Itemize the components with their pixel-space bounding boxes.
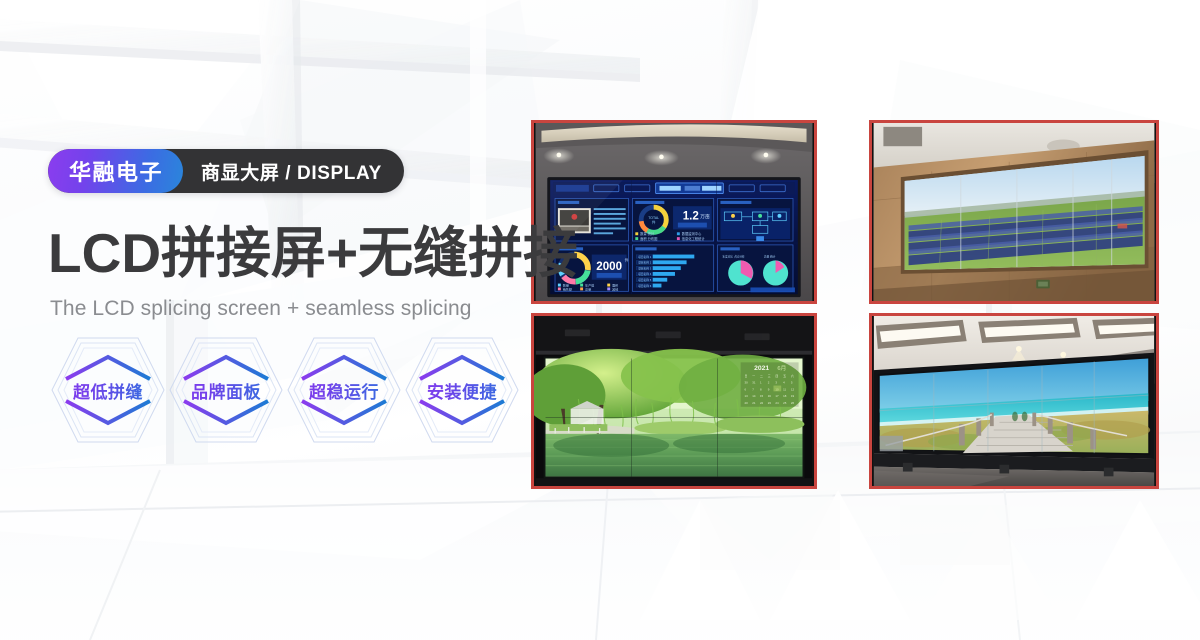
photo-solar-farm-videowall[interactable]: [869, 120, 1159, 304]
svg-text:24: 24: [775, 401, 779, 405]
svg-text:日: 日: [745, 374, 748, 378]
svg-text:2021: 2021: [754, 365, 769, 372]
svg-text:15: 15: [760, 394, 764, 398]
feature-item-3: 超稳运行: [284, 332, 404, 448]
feature-item-1: 超低拼缝: [48, 332, 168, 448]
svg-text:项目名称 2: 项目名称 2: [638, 261, 651, 265]
feature-label: 安装便捷: [402, 332, 522, 448]
svg-text:五: 五: [783, 374, 786, 378]
svg-text:TOTAL: TOTAL: [648, 216, 659, 220]
svg-text:其他: 其他: [612, 286, 618, 291]
svg-text:万亩: 万亩: [700, 213, 710, 220]
page-subtitle: The LCD splicing screen + seamless splic…: [50, 297, 472, 321]
feature-label: 超低拼缝: [48, 332, 168, 448]
photo-image: 2021 6月 日一二 三四五 六 30311 234 5 678 91011 …: [534, 316, 814, 486]
svg-text:31: 31: [752, 381, 756, 385]
brand-category: 商显大屏 / DISPLAY: [183, 149, 404, 193]
svg-text:项目名称 3: 项目名称 3: [638, 266, 651, 270]
svg-text:11: 11: [783, 387, 786, 391]
svg-text:22: 22: [760, 401, 764, 405]
photo-image: [872, 316, 1156, 486]
svg-text:项目名称 6: 项目名称 6: [638, 284, 651, 288]
calendar-overlay: 2021 6月 日一二 三四五 六 30311 234 5 678 91011 …: [741, 362, 799, 406]
svg-text:总量: 总量: [585, 286, 591, 291]
feature-item-4: 安装便捷: [402, 332, 522, 448]
photo-image: [872, 123, 1156, 301]
svg-text:三: 三: [768, 374, 771, 378]
svg-text:四: 四: [775, 374, 778, 378]
svg-text:项目名称 5: 项目名称 5: [638, 278, 651, 282]
feature-label: 品牌面板: [166, 332, 286, 448]
svg-text:25: 25: [783, 401, 787, 405]
svg-text:18: 18: [783, 394, 787, 398]
svg-text:17: 17: [775, 394, 779, 398]
feature-item-2: 品牌面板: [166, 332, 286, 448]
product-photo-grid: TOTAL 件 1.2 万亩 数量 统计 面积 分布图 数据监测中心 信息化工程…: [531, 120, 1159, 489]
svg-text:16: 16: [768, 394, 772, 398]
feature-list: 超低拼缝 品牌面板: [48, 332, 520, 448]
svg-text:项目名称 4: 项目名称 4: [638, 272, 651, 276]
svg-text:二: 二: [760, 374, 763, 378]
svg-text:六: 六: [791, 373, 794, 378]
svg-text:年度对比 占比分析: 年度对比 占比分析: [722, 254, 745, 258]
photo-beach-boardwalk-videowall[interactable]: [869, 313, 1159, 489]
svg-text:数量 统计: 数量 统计: [640, 231, 655, 236]
svg-text:项目名称 1: 项目名称 1: [638, 255, 651, 259]
svg-text:23: 23: [768, 401, 772, 405]
svg-text:13: 13: [745, 394, 749, 398]
brand-badge: 华融电子 商显大屏 / DISPLAY: [48, 149, 404, 193]
svg-text:件: 件: [625, 257, 629, 262]
svg-text:一: 一: [752, 374, 755, 378]
feature-label: 超稳运行: [284, 332, 404, 448]
svg-text:销售额: 销售额: [563, 286, 572, 291]
page-title: LCD拼接屏+无缝拼接: [48, 226, 578, 281]
svg-text:30: 30: [745, 381, 749, 385]
svg-text:1.2: 1.2: [683, 210, 699, 223]
svg-text:19: 19: [791, 394, 795, 398]
svg-text:6月: 6月: [777, 365, 786, 372]
svg-text:面积 分布图: 面积 分布图: [640, 236, 657, 241]
svg-text:总量 统计: 总量 统计: [764, 254, 776, 258]
brand-name: 华融电子: [48, 149, 183, 193]
svg-text:信息化工程统计: 信息化工程统计: [682, 236, 706, 241]
svg-text:12: 12: [791, 387, 795, 391]
svg-text:14: 14: [752, 394, 756, 398]
svg-text:26: 26: [791, 401, 795, 405]
content-column: 华融电子 商显大屏 / DISPLAY LCD拼接屏+无缝拼接 The LCD …: [48, 0, 528, 640]
photo-willow-lake-videowall[interactable]: 2021 6月 日一二 三四五 六 30311 234 5 678 91011 …: [531, 313, 817, 489]
svg-text:2000: 2000: [596, 260, 622, 273]
svg-text:21: 21: [752, 401, 756, 405]
svg-text:20: 20: [745, 401, 749, 405]
promo-banner: 华融电子 商显大屏 / DISPLAY LCD拼接屏+无缝拼接 The LCD …: [0, 0, 1200, 640]
svg-text:数据监测中心: 数据监测中心: [682, 231, 702, 236]
svg-text:件: 件: [652, 220, 656, 225]
